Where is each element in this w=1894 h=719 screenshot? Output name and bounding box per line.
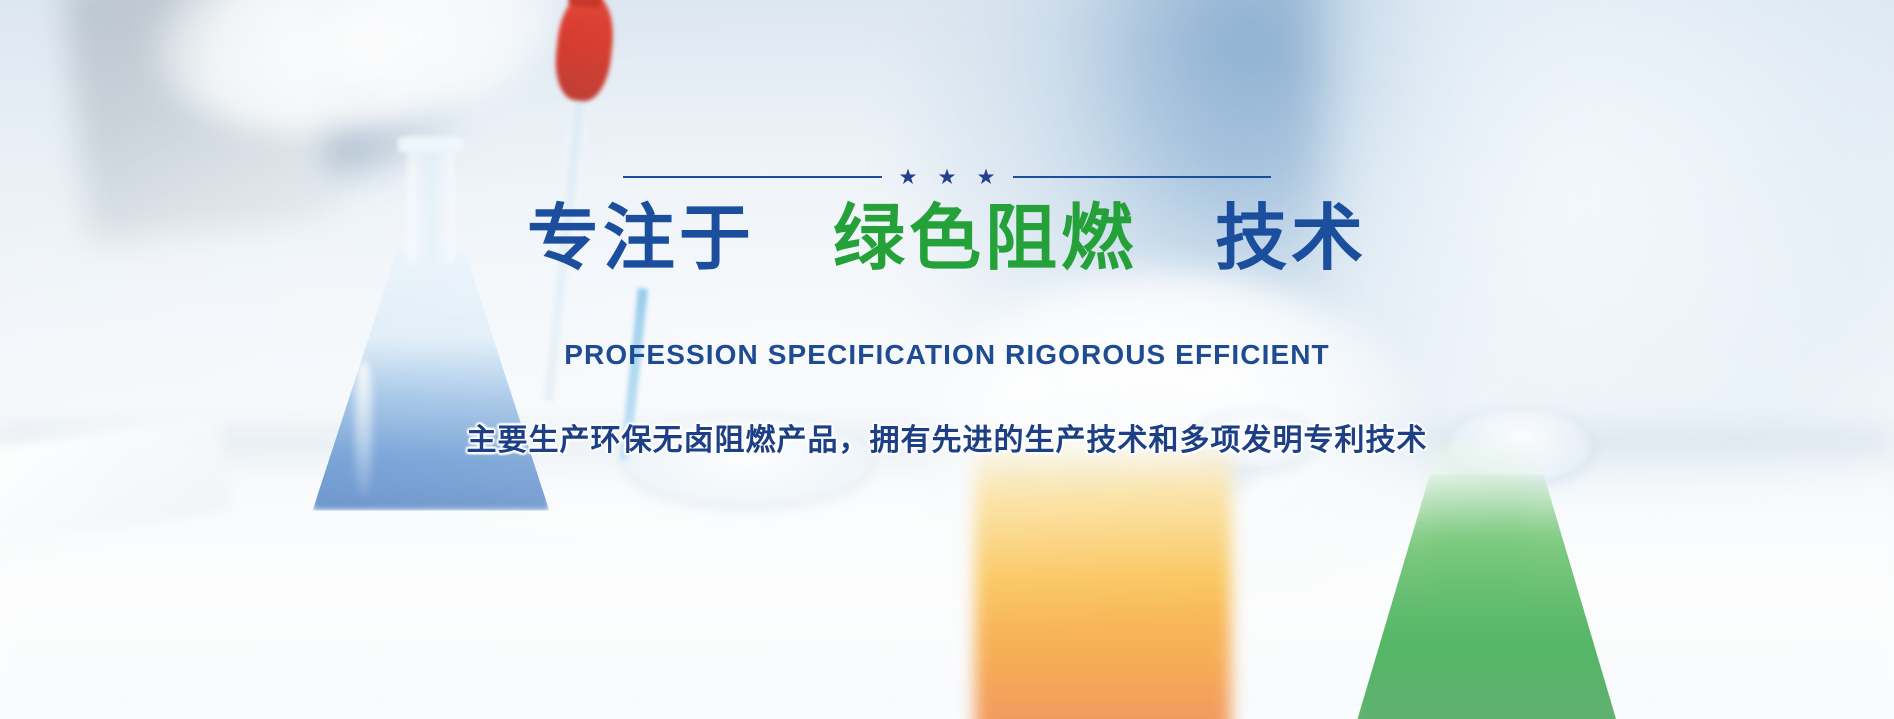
- divider-line-left: [623, 176, 882, 178]
- star-icon: [939, 169, 956, 186]
- headline-part-3: 技术: [1215, 196, 1367, 280]
- star-group: [900, 169, 995, 186]
- divider-line-right: [1013, 176, 1272, 178]
- headline-part-2: 绿色阻燃: [833, 196, 1137, 280]
- hero-banner: 专注于 绿色阻燃 技术 PROFESSION SPECIFICATION RIG…: [0, 0, 1894, 719]
- star-icon: [978, 169, 995, 186]
- banner-content: 专注于 绿色阻燃 技术 PROFESSION SPECIFICATION RIG…: [0, 0, 1894, 719]
- page-title: 专注于 绿色阻燃 技术: [527, 200, 1367, 276]
- headline-part-1: 专注于: [527, 196, 755, 280]
- subtitle-english: PROFESSION SPECIFICATION RIGOROUS EFFICI…: [564, 339, 1330, 371]
- star-icon: [900, 169, 917, 186]
- decorative-divider: [623, 166, 1271, 188]
- description-text: 主要生产环保无卤阻燃产品，拥有先进的生产技术和多项发明专利技术: [467, 415, 1428, 459]
